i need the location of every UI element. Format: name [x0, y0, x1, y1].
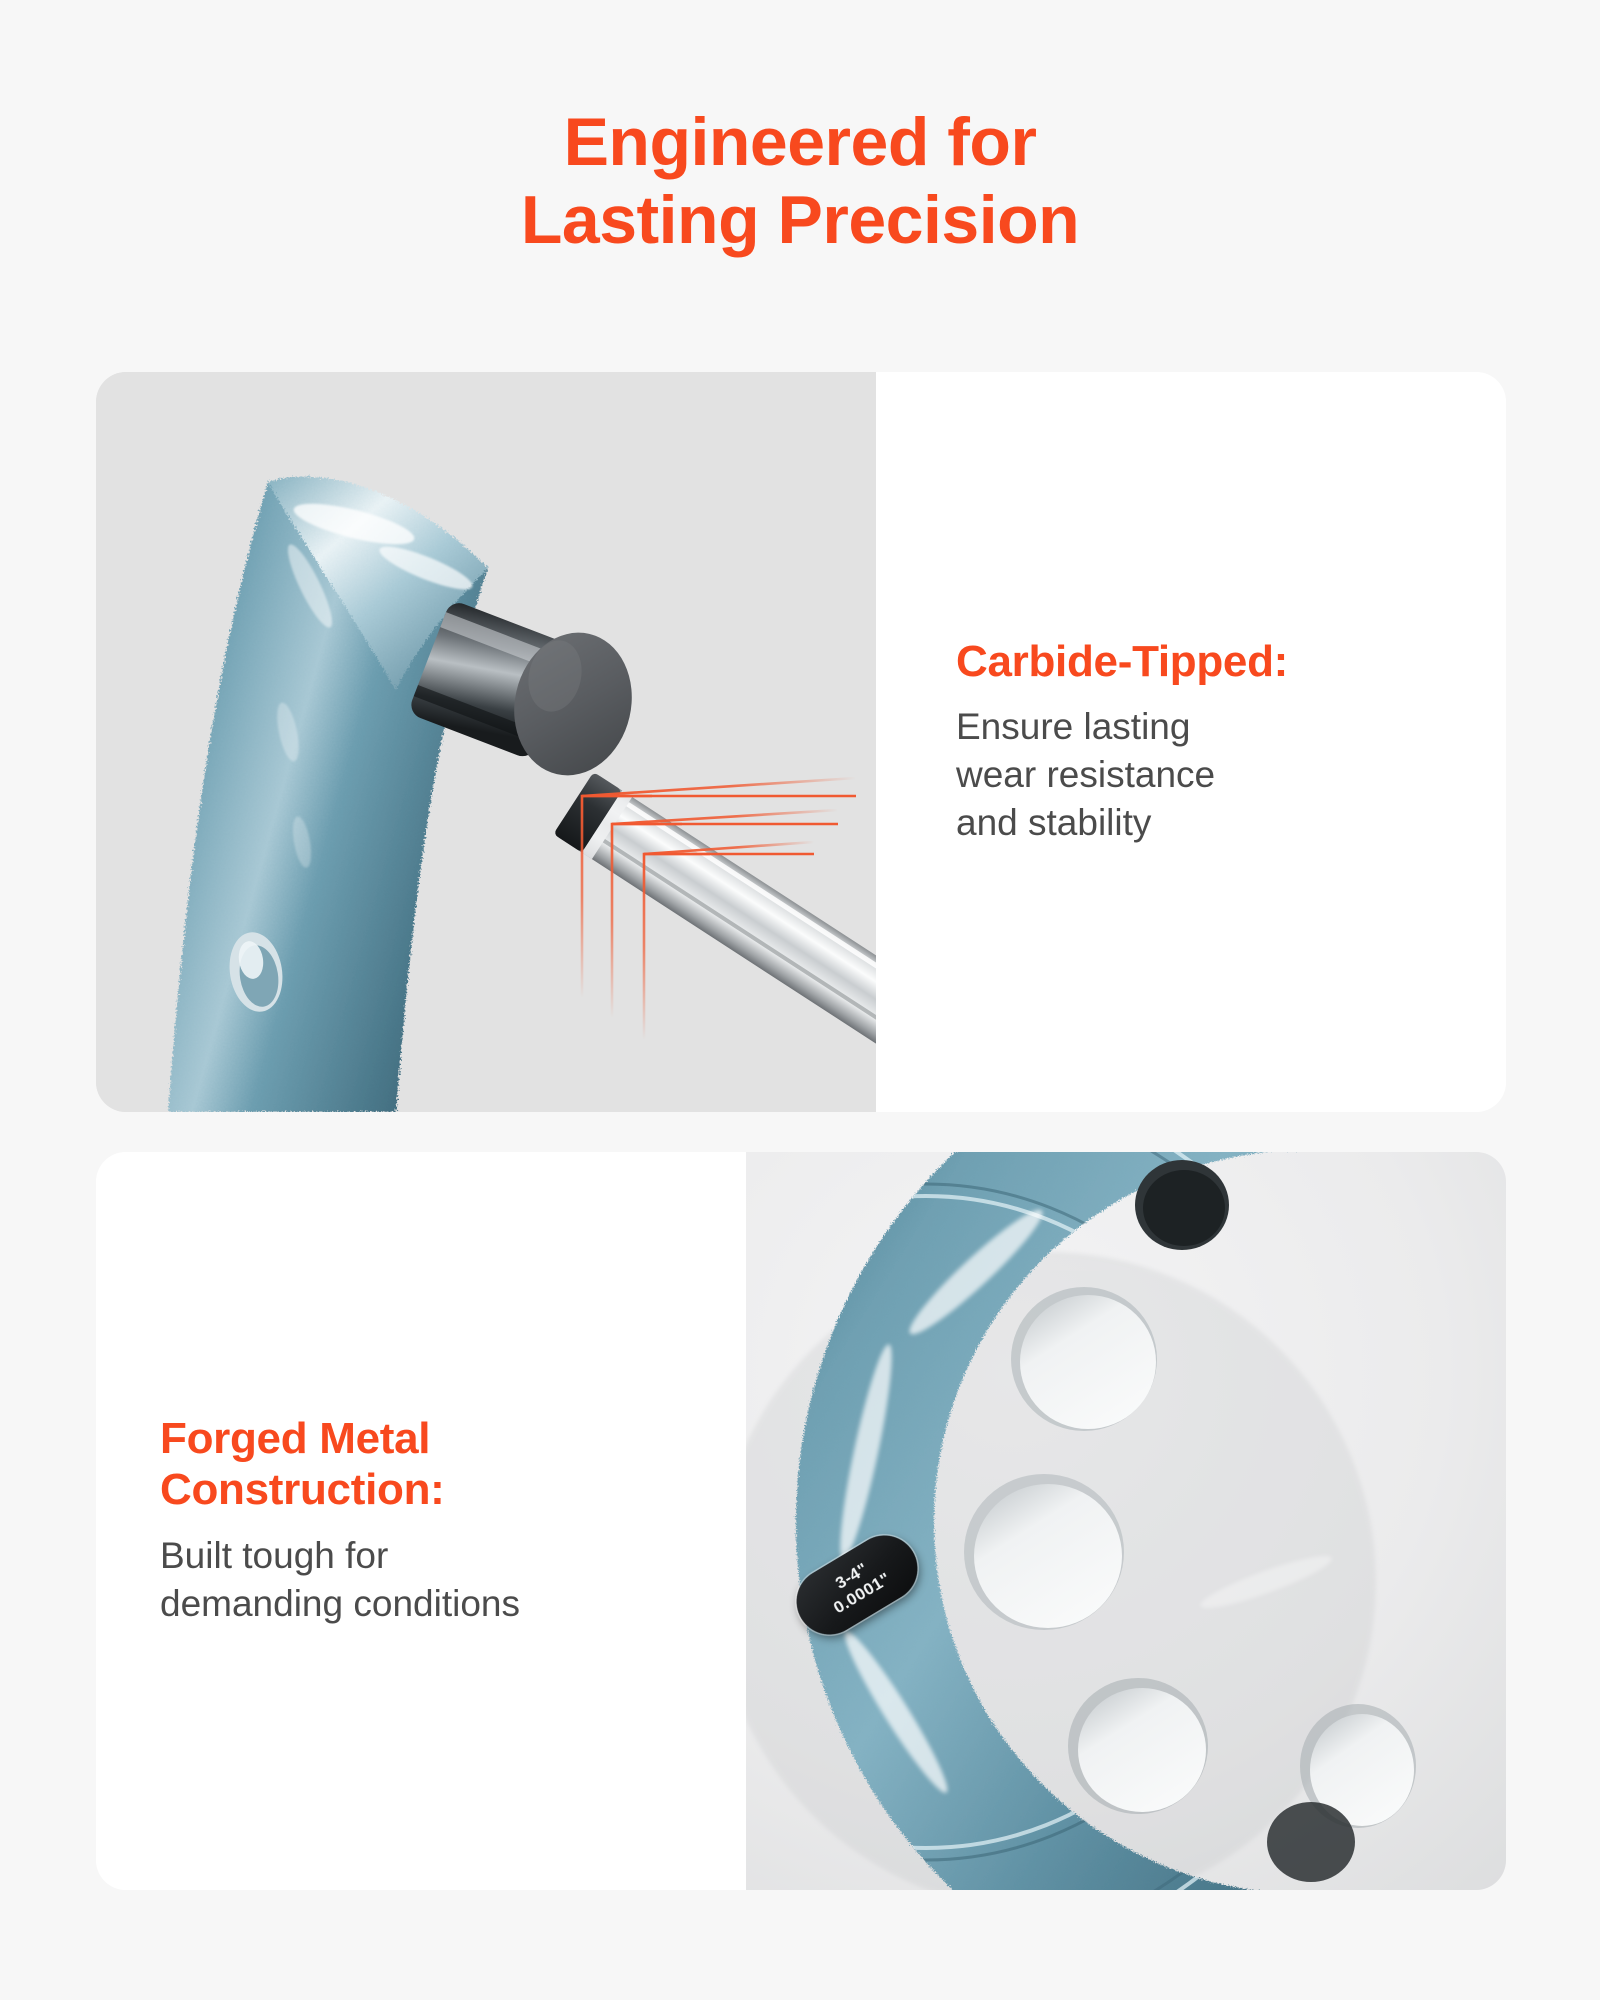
page-title-line-2: Lasting Precision — [0, 182, 1600, 260]
feature-image-forged-metal-construction: 3-4" 0.0001" — [746, 1152, 1506, 1890]
page-title-line-1: Engineered for — [0, 104, 1600, 182]
feature-heading-line-2: Construction: — [160, 1465, 706, 1516]
feature-heading-carbide-tipped: Carbide-Tipped: — [956, 637, 1466, 688]
feature-body-forged-metal-construction: Built tough for demanding conditions — [160, 1532, 706, 1628]
feature-text-forged-metal-construction: Forged Metal Construction: Built tough f… — [96, 1152, 746, 1890]
feature-body-line-2: demanding conditions — [160, 1580, 706, 1628]
page-header: Engineered for Lasting Precision — [0, 0, 1600, 259]
feature-body-carbide-tipped: Ensure lasting wear resistance and stabi… — [956, 703, 1466, 847]
feature-heading-line-1: Forged Metal — [160, 1414, 706, 1465]
feature-text-carbide-tipped: Carbide-Tipped: Ensure lasting wear resi… — [876, 372, 1506, 1112]
feature-heading-line-1: Carbide-Tipped: — [956, 637, 1466, 688]
feature-card-forged-metal-construction: Forged Metal Construction: Built tough f… — [96, 1152, 1506, 1890]
feature-body-line-3: and stability — [956, 799, 1466, 847]
page-title: Engineered for Lasting Precision — [0, 104, 1600, 259]
feature-heading-forged-metal-construction: Forged Metal Construction: — [160, 1414, 706, 1515]
feature-image-carbide-tipped — [96, 372, 876, 1112]
feature-card-carbide-tipped: Carbide-Tipped: Ensure lasting wear resi… — [96, 372, 1506, 1112]
feature-body-line-1: Ensure lasting — [956, 703, 1466, 751]
feature-body-line-2: wear resistance — [956, 751, 1466, 799]
feature-body-line-1: Built tough for — [160, 1532, 706, 1580]
